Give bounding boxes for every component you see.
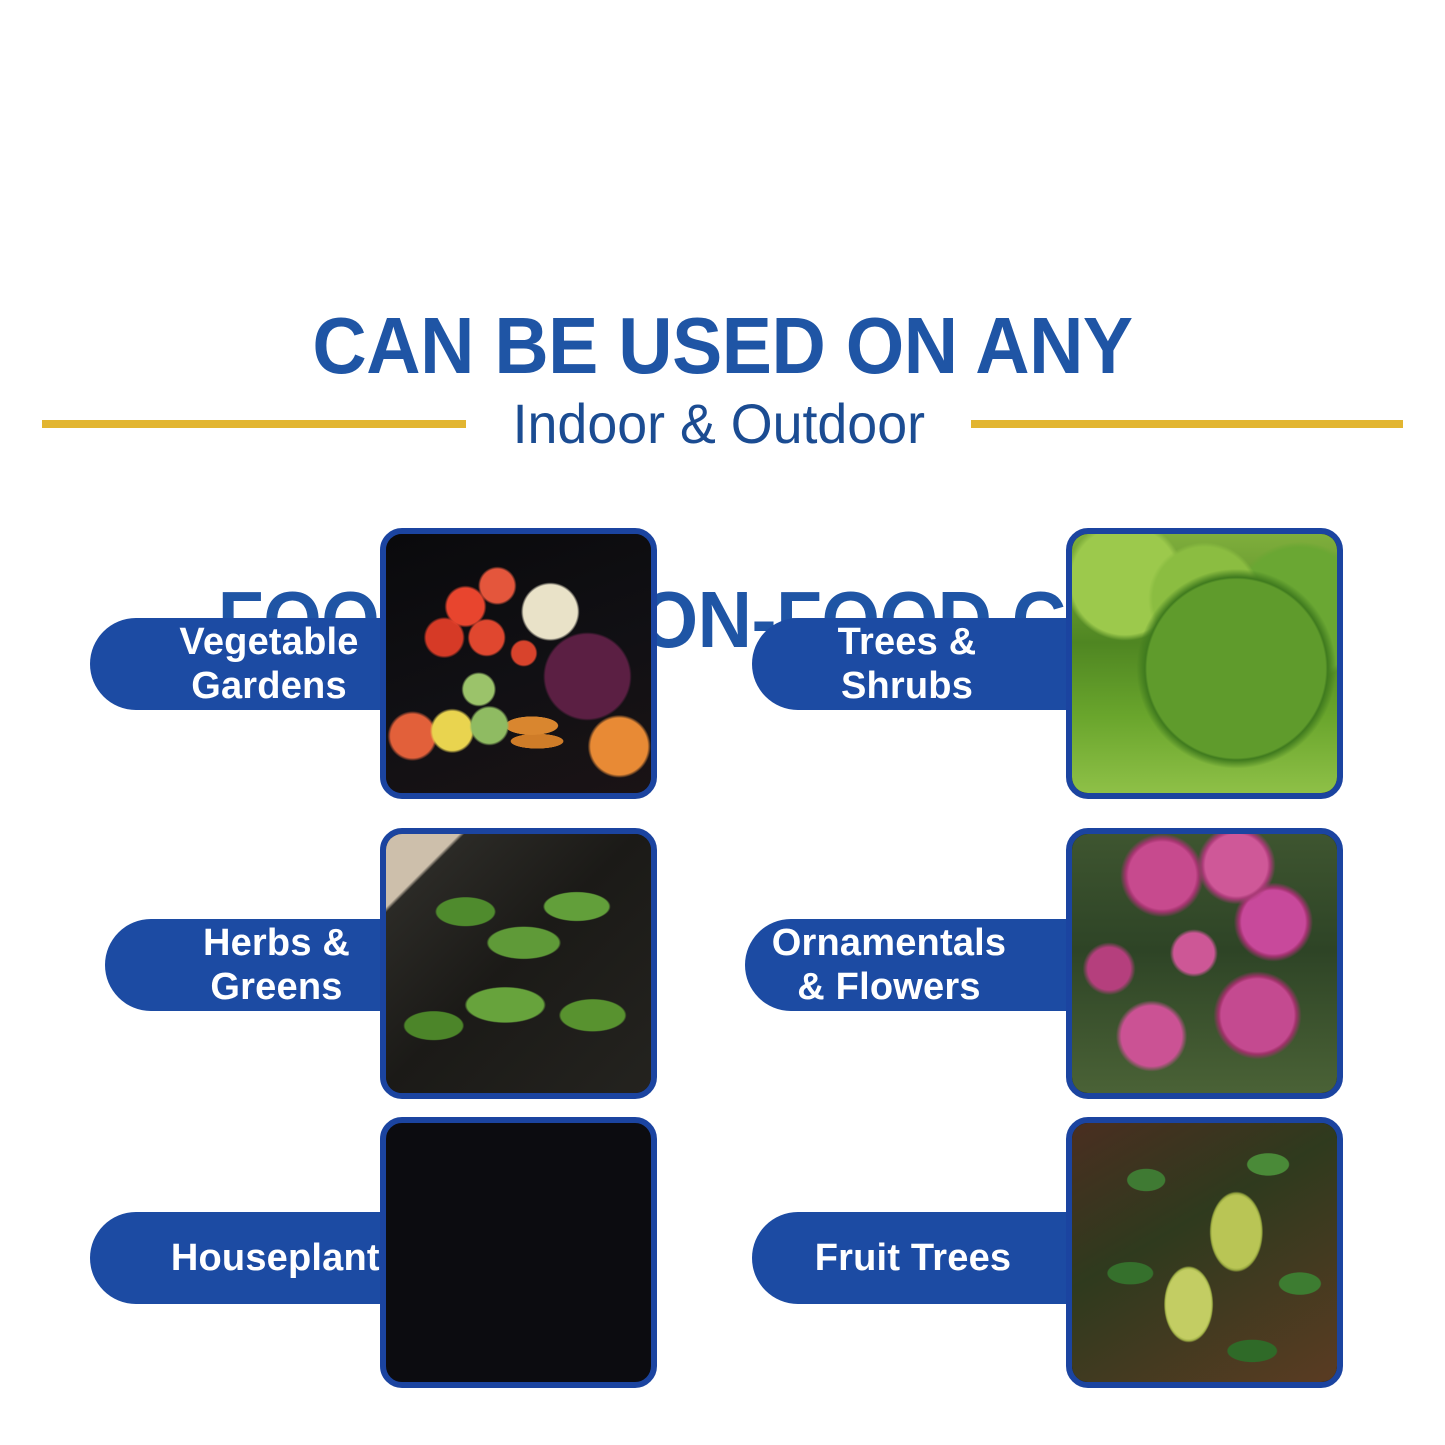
photo-card-ornamentals-flowers[interactable] <box>1066 828 1343 1099</box>
label-text-fruit-trees: Fruit Trees <box>797 1236 1038 1280</box>
label-pill-trees-shrubs[interactable]: Trees & Shrubs <box>752 618 1070 710</box>
photo-card-fruit-trees[interactable] <box>1066 1117 1343 1388</box>
label-pill-fruit-trees[interactable]: Fruit Trees <box>752 1212 1082 1304</box>
photo-card-herbs-greens[interactable] <box>380 828 657 1099</box>
photo-card-trees-shrubs[interactable] <box>1066 528 1343 799</box>
shrub-photo <box>1072 534 1337 793</box>
infographic-canvas: CAN BE USED ON ANY FOOD OR NON-FOOD CROP… <box>0 0 1445 1445</box>
photo-card-houseplants[interactable] <box>380 1117 657 1388</box>
vegetables-photo <box>386 534 651 793</box>
label-pill-ornamentals-flowers[interactable]: Ornamentals & Flowers <box>745 919 1075 1011</box>
label-text-herbs-greens: Herbs & Greens <box>185 921 410 1009</box>
label-text-ornamentals-flowers: Ornamentals & Flowers <box>754 921 1067 1009</box>
crop-category-grid: Vegetable Gardens Trees & Shrubs Herbs &… <box>0 0 1445 1445</box>
herbs-photo <box>386 834 651 1093</box>
pears-photo <box>1072 1123 1337 1382</box>
flowers-photo <box>1072 834 1337 1093</box>
photo-card-vegetable-gardens[interactable] <box>380 528 657 799</box>
label-text-trees-shrubs: Trees & Shrubs <box>752 620 1070 708</box>
houseplants-photo <box>386 1123 651 1382</box>
